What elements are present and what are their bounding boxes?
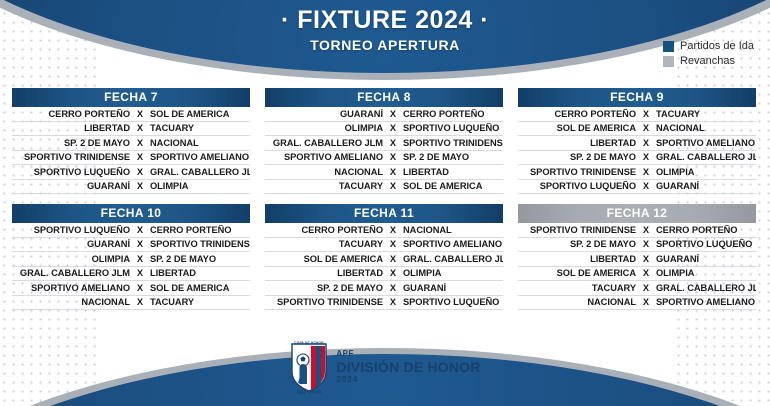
versus-separator: X xyxy=(134,181,146,191)
fixture-card-fecha-8: FECHA 8 GUARANÍ X CERRO PORTEÑO OLIMPIA … xyxy=(265,88,503,194)
versus-separator: X xyxy=(134,138,146,148)
team-home: SPORTIVO LUQUEÑO xyxy=(12,225,134,235)
table-row: CERRO PORTEÑO X TACUARY xyxy=(518,107,756,122)
fixture-header-fecha-8: FECHA 8 xyxy=(265,88,503,107)
versus-separator: X xyxy=(387,109,399,119)
team-home: SPORTIVO TRINIDENSE xyxy=(265,297,387,307)
table-row: SPORTIVO AMELIANO X SP. 2 DE MAYO xyxy=(265,151,503,166)
team-away: GRAL. CABALLERO JLM xyxy=(146,167,250,177)
team-away: OLIMPIA xyxy=(652,167,756,177)
versus-separator: X xyxy=(387,123,399,133)
table-row: TACUARY X SPORTIVO AMELIANO xyxy=(265,238,503,253)
brand-year-label: 2024 xyxy=(336,376,480,384)
table-row: NACIONAL X TACUARY xyxy=(12,296,250,311)
fixture-header-fecha-9: FECHA 9 xyxy=(518,88,756,107)
brand-lockup: COPA DE HONOR tigo ueno APF DIVISIÓN DE … xyxy=(0,340,770,394)
team-away: TACUARY xyxy=(146,123,250,133)
legend-label-ida: Partidos de Ida xyxy=(680,40,754,52)
svg-text:COPA DE HONOR: COPA DE HONOR xyxy=(295,341,325,345)
table-row: SPORTIVO TRINIDENSE X SPORTIVO LUQUEÑO xyxy=(265,296,503,311)
team-away: SOL DE AMERICA xyxy=(146,283,250,293)
versus-separator: X xyxy=(387,254,399,264)
team-home: SPORTIVO AMELIANO xyxy=(12,283,134,293)
team-away: SP. 2 DE MAYO xyxy=(399,152,503,162)
versus-separator: X xyxy=(134,239,146,249)
fixture-header-fecha-10: FECHA 10 xyxy=(12,204,250,223)
team-home: SOL DE AMERICA xyxy=(518,123,640,133)
versus-separator: X xyxy=(387,297,399,307)
apf-crest-icon: COPA DE HONOR tigo ueno xyxy=(289,340,329,394)
versus-separator: X xyxy=(640,138,652,148)
fixture-header-fecha-12: FECHA 12 xyxy=(518,204,756,223)
versus-separator: X xyxy=(134,225,146,235)
team-away: NACIONAL xyxy=(399,225,503,235)
table-row: SOL DE AMERICA X GRAL. CABALLERO JLM xyxy=(265,252,503,267)
table-row: NACIONAL X SPORTIVO AMELIANO xyxy=(518,296,756,311)
team-home: LIBERTAD xyxy=(12,123,134,133)
team-away: OLIMPIA xyxy=(146,181,250,191)
versus-separator: X xyxy=(640,283,652,293)
brand-text: APF DIVISIÓN DE HONOR 2024 xyxy=(336,350,480,384)
versus-separator: X xyxy=(640,254,652,264)
page-subtitle: TORNEO APERTURA xyxy=(0,37,770,53)
team-away: SP. 2 DE MAYO xyxy=(146,254,250,264)
team-home: CERRO PORTEÑO xyxy=(12,109,134,119)
table-row: GUARANÍ X SPORTIVO TRINIDENSE xyxy=(12,238,250,253)
table-row: SPORTIVO LUQUEÑO X GRAL. CABALLERO JLM xyxy=(12,165,250,180)
table-row: SPORTIVO TRINIDENSE X CERRO PORTEÑO xyxy=(518,223,756,238)
table-row: NACIONAL X LIBERTAD xyxy=(265,165,503,180)
team-away: GRAL. CABALLERO JLM xyxy=(652,152,756,162)
versus-separator: X xyxy=(134,268,146,278)
team-home: NACIONAL xyxy=(265,167,387,177)
versus-separator: X xyxy=(387,167,399,177)
team-home: OLIMPIA xyxy=(12,254,134,264)
team-home: SOL DE AMERICA xyxy=(265,254,387,264)
versus-separator: X xyxy=(387,268,399,278)
fixture-grid: FECHA 7 CERRO PORTEÑO X SOL DE AMERICA L… xyxy=(12,88,758,310)
versus-separator: X xyxy=(640,152,652,162)
table-row: SP. 2 DE MAYO X GRAL. CABALLERO JLM xyxy=(518,151,756,166)
versus-separator: X xyxy=(134,123,146,133)
team-away: GUARANÍ xyxy=(652,181,756,191)
team-away: TACUARY xyxy=(146,297,250,307)
team-away: SPORTIVO LUQUEÑO xyxy=(399,297,503,307)
table-row: SPORTIVO LUQUEÑO X GUARANÍ xyxy=(518,180,756,195)
team-away: GRAL. CABALLERO JLM xyxy=(652,283,756,293)
team-away: NACIONAL xyxy=(146,138,250,148)
table-row: LIBERTAD X GUARANÍ xyxy=(518,252,756,267)
table-row: GRAL. CABALLERO JLM X SPORTIVO TRINIDENS… xyxy=(265,136,503,151)
team-home: SPORTIVO TRINIDENSE xyxy=(518,225,640,235)
team-away: OLIMPIA xyxy=(399,268,503,278)
team-home: TACUARY xyxy=(265,239,387,249)
legend-swatch-revanchas-icon xyxy=(663,56,674,67)
team-home: SP. 2 DE MAYO xyxy=(518,152,640,162)
team-away: TACUARY xyxy=(652,109,756,119)
versus-separator: X xyxy=(387,225,399,235)
versus-separator: X xyxy=(640,181,652,191)
team-away: GRAL. CABALLERO JLM xyxy=(399,254,503,264)
versus-separator: X xyxy=(640,239,652,249)
versus-separator: X xyxy=(387,152,399,162)
team-home: SP. 2 DE MAYO xyxy=(518,239,640,249)
table-row: GUARANÍ X CERRO PORTEÑO xyxy=(265,107,503,122)
versus-separator: X xyxy=(387,283,399,293)
table-row: SOL DE AMERICA X OLIMPIA xyxy=(518,267,756,282)
table-row: LIBERTAD X OLIMPIA xyxy=(265,267,503,282)
versus-separator: X xyxy=(387,181,399,191)
team-home: OLIMPIA xyxy=(265,123,387,133)
table-row: SPORTIVO LUQUEÑO X CERRO PORTEÑO xyxy=(12,223,250,238)
table-row: SPORTIVO AMELIANO X SOL DE AMERICA xyxy=(12,281,250,296)
team-away: SPORTIVO TRINIDENSE xyxy=(399,138,503,148)
table-row: SPORTIVO TRINIDENSE X OLIMPIA xyxy=(518,165,756,180)
legend-label-revanchas: Revanchas xyxy=(680,55,735,67)
table-row: LIBERTAD X SPORTIVO AMELIANO xyxy=(518,136,756,151)
team-home: CERRO PORTEÑO xyxy=(518,109,640,119)
versus-separator: X xyxy=(640,268,652,278)
team-away: SPORTIVO AMELIANO xyxy=(146,152,250,162)
team-home: SPORTIVO AMELIANO xyxy=(265,152,387,162)
team-away: OLIMPIA xyxy=(652,268,756,278)
versus-separator: X xyxy=(134,283,146,293)
team-away: GUARANÍ xyxy=(399,283,503,293)
table-row: OLIMPIA X SP. 2 DE MAYO xyxy=(12,252,250,267)
team-home: GUARANÍ xyxy=(12,181,134,191)
team-home: SPORTIVO LUQUEÑO xyxy=(518,181,640,191)
team-home: SOL DE AMERICA xyxy=(518,268,640,278)
fixture-card-fecha-10: FECHA 10 SPORTIVO LUQUEÑO X CERRO PORTEÑ… xyxy=(12,204,250,310)
table-row: CERRO PORTEÑO X NACIONAL xyxy=(265,223,503,238)
team-home: NACIONAL xyxy=(12,297,134,307)
versus-separator: X xyxy=(134,109,146,119)
table-row: GRAL. CABALLERO JLM X LIBERTAD xyxy=(12,267,250,282)
team-home: NACIONAL xyxy=(518,297,640,307)
team-away: SPORTIVO LUQUEÑO xyxy=(652,239,756,249)
versus-separator: X xyxy=(640,225,652,235)
legend: Partidos de Ida Revanchas xyxy=(663,40,754,70)
fixture-header-fecha-7: FECHA 7 xyxy=(12,88,250,107)
legend-item-ida: Partidos de Ida xyxy=(663,40,754,52)
team-home: SPORTIVO LUQUEÑO xyxy=(12,167,134,177)
team-home: LIBERTAD xyxy=(518,138,640,148)
team-away: NACIONAL xyxy=(652,123,756,133)
team-home: LIBERTAD xyxy=(518,254,640,264)
page-title: · FIXTURE 2024 · xyxy=(0,6,770,34)
team-home: LIBERTAD xyxy=(265,268,387,278)
table-row: SOL DE AMERICA X NACIONAL xyxy=(518,122,756,137)
table-row: OLIMPIA X SPORTIVO LUQUEÑO xyxy=(265,122,503,137)
team-away: LIBERTAD xyxy=(399,167,503,177)
fixture-card-fecha-12: FECHA 12 SPORTIVO TRINIDENSE X CERRO POR… xyxy=(518,204,756,310)
team-home: TACUARY xyxy=(518,283,640,293)
team-home: GUARANÍ xyxy=(265,109,387,119)
team-home: GUARANÍ xyxy=(12,239,134,249)
versus-separator: X xyxy=(134,297,146,307)
team-home: SP. 2 DE MAYO xyxy=(265,283,387,293)
table-row: CERRO PORTEÑO X SOL DE AMERICA xyxy=(12,107,250,122)
table-row: SP. 2 DE MAYO X GUARANÍ xyxy=(265,281,503,296)
table-row: GUARANÍ X OLIMPIA xyxy=(12,180,250,195)
team-away: SPORTIVO AMELIANO xyxy=(652,297,756,307)
table-row: TACUARY X SOL DE AMERICA xyxy=(265,180,503,195)
team-home: SPORTIVO TRINIDENSE xyxy=(518,167,640,177)
team-away: SOL DE AMERICA xyxy=(146,109,250,119)
team-home: GRAL. CABALLERO JLM xyxy=(12,268,134,278)
team-away: LIBERTAD xyxy=(146,268,250,278)
fixture-card-fecha-7: FECHA 7 CERRO PORTEÑO X SOL DE AMERICA L… xyxy=(12,88,250,194)
team-away: SPORTIVO AMELIANO xyxy=(652,138,756,148)
svg-text:tigo ueno: tigo ueno xyxy=(297,389,321,394)
fixture-card-fecha-9: FECHA 9 CERRO PORTEÑO X TACUARY SOL DE A… xyxy=(518,88,756,194)
table-row: SP. 2 DE MAYO X NACIONAL xyxy=(12,136,250,151)
versus-separator: X xyxy=(640,297,652,307)
versus-separator: X xyxy=(134,254,146,264)
team-away: GUARANÍ xyxy=(652,254,756,264)
team-away: SPORTIVO AMELIANO xyxy=(399,239,503,249)
versus-separator: X xyxy=(640,167,652,177)
team-away: CERRO PORTEÑO xyxy=(399,109,503,119)
versus-separator: X xyxy=(640,123,652,133)
team-home: CERRO PORTEÑO xyxy=(265,225,387,235)
team-home: SP. 2 DE MAYO xyxy=(12,138,134,148)
team-home: TACUARY xyxy=(265,181,387,191)
team-home: GRAL. CABALLERO JLM xyxy=(265,138,387,148)
table-row: SP. 2 DE MAYO X SPORTIVO LUQUEÑO xyxy=(518,238,756,253)
team-away: SOL DE AMERICA xyxy=(399,181,503,191)
team-away: SPORTIVO TRINIDENSE xyxy=(146,239,250,249)
versus-separator: X xyxy=(387,138,399,148)
fixture-card-fecha-11: FECHA 11 CERRO PORTEÑO X NACIONAL TACUAR… xyxy=(265,204,503,310)
legend-swatch-ida-icon xyxy=(663,41,674,52)
team-home: SPORTIVO TRINIDENSE xyxy=(12,152,134,162)
team-away: SPORTIVO LUQUEÑO xyxy=(399,123,503,133)
brand-division-label: DIVISIÓN DE HONOR xyxy=(336,360,480,374)
table-row: LIBERTAD X TACUARY xyxy=(12,122,250,137)
brand-inner: COPA DE HONOR tigo ueno APF DIVISIÓN DE … xyxy=(289,340,480,394)
legend-item-revanchas: Revanchas xyxy=(663,55,754,67)
fixture-header-fecha-11: FECHA 11 xyxy=(265,204,503,223)
table-row: TACUARY X GRAL. CABALLERO JLM xyxy=(518,281,756,296)
team-away: CERRO PORTEÑO xyxy=(146,225,250,235)
versus-separator: X xyxy=(640,109,652,119)
table-row: SPORTIVO TRINIDENSE X SPORTIVO AMELIANO xyxy=(12,151,250,166)
brand-apf-label: APF xyxy=(336,350,480,358)
header-text-block: · FIXTURE 2024 · TORNEO APERTURA xyxy=(0,6,770,53)
team-away: CERRO PORTEÑO xyxy=(652,225,756,235)
versus-separator: X xyxy=(387,239,399,249)
versus-separator: X xyxy=(134,167,146,177)
versus-separator: X xyxy=(134,152,146,162)
